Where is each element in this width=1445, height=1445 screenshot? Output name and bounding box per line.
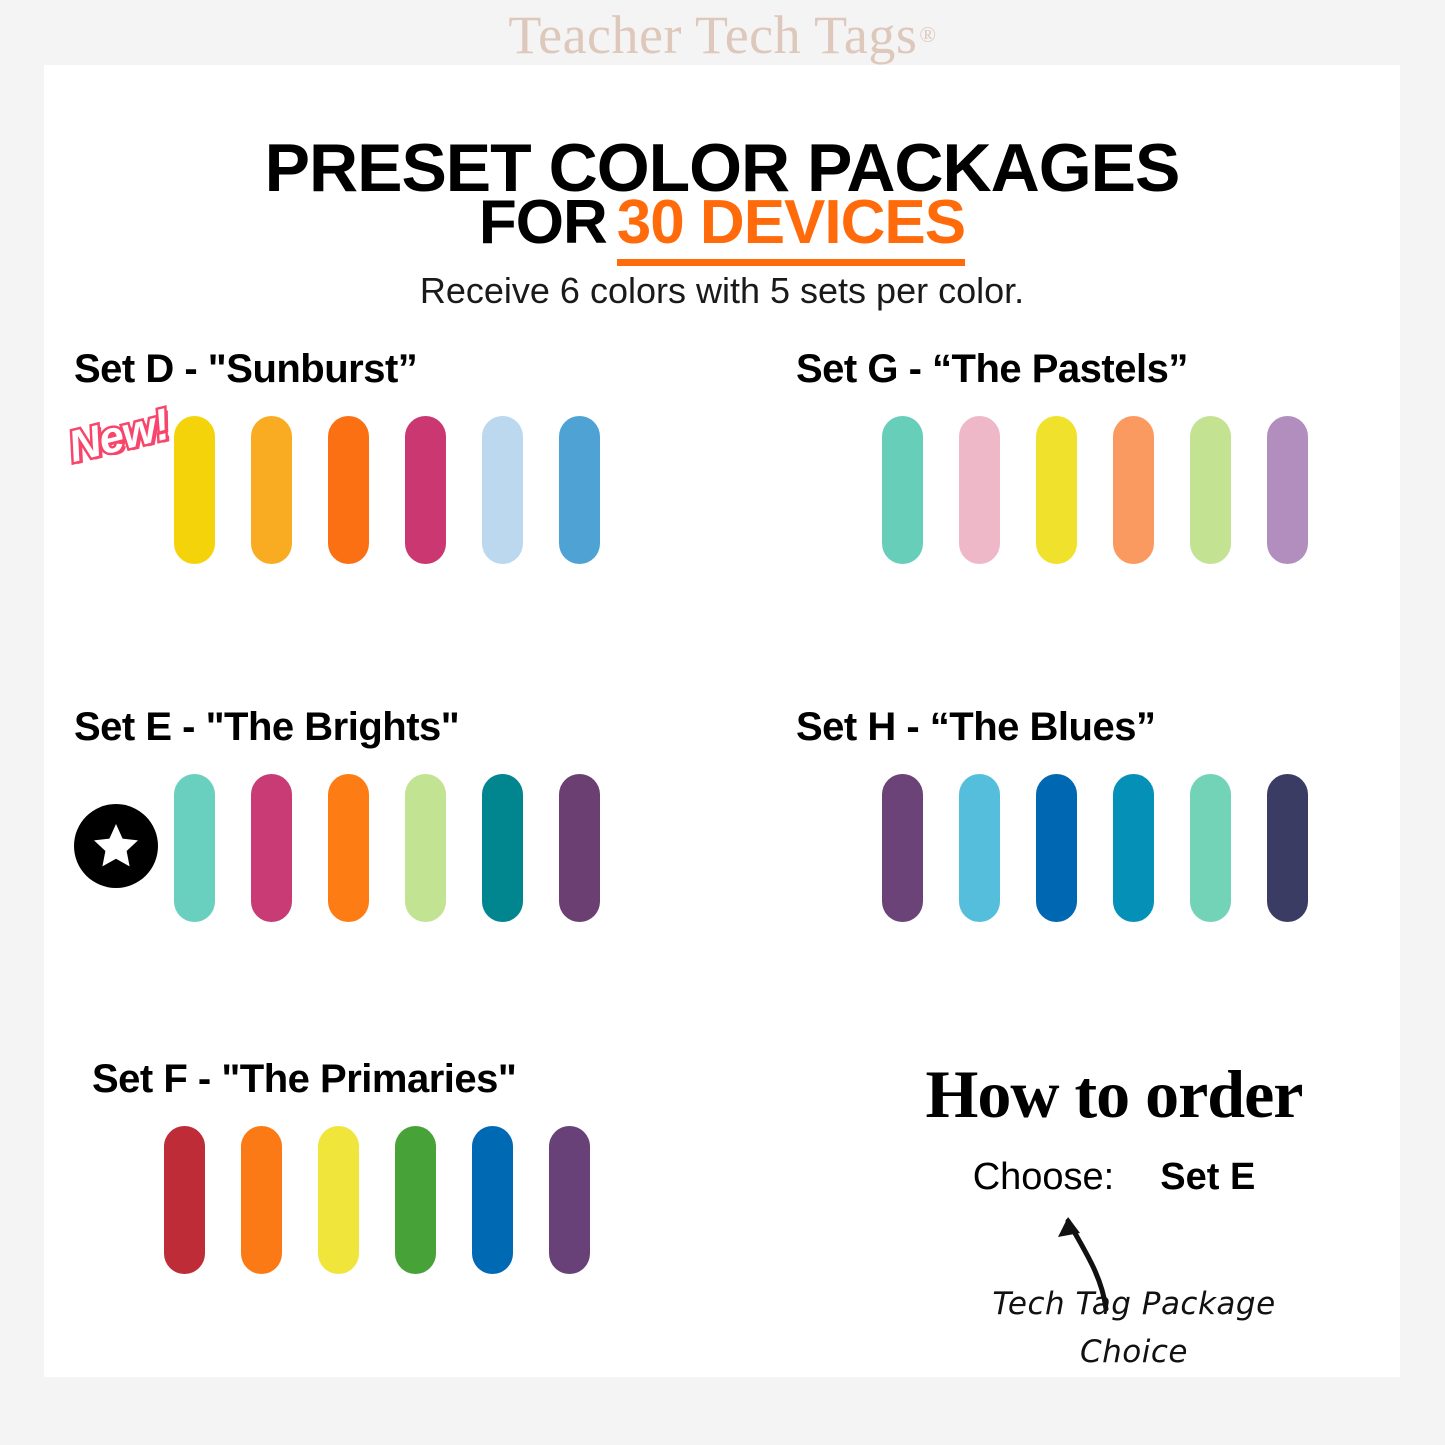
how-to-order-block: How to order Choose: Set E Tech Tag Pack… (834, 1055, 1394, 1199)
page-subtitle: FOR30 DEVICES (44, 187, 1400, 258)
color-swatch (318, 1126, 359, 1274)
color-swatch (1267, 416, 1308, 564)
device-count-highlight: 30 DEVICES (617, 188, 965, 266)
color-swatch (1190, 774, 1231, 922)
set-title-set-h: Set H - “The Blues” (796, 705, 1308, 750)
color-swatch (959, 774, 1000, 922)
set-block-set-f: Set F - "The Primaries" (92, 1057, 590, 1274)
annotation-line-1: Tech Tag Package (894, 1280, 1374, 1328)
color-swatch (174, 774, 215, 922)
featured-badge-slot (74, 774, 158, 922)
swatch-row-set-h (882, 774, 1308, 922)
how-to-order-title: How to order (834, 1055, 1394, 1134)
color-swatch (882, 416, 923, 564)
color-swatch (251, 416, 292, 564)
star-badge (74, 804, 158, 888)
swatch-row-set-e (74, 774, 600, 922)
color-swatch (1113, 416, 1154, 564)
color-swatch (559, 416, 600, 564)
color-swatch (328, 774, 369, 922)
color-swatch (1113, 774, 1154, 922)
set-title-set-e: Set E - "The Brights" (74, 705, 600, 750)
color-swatch (549, 1126, 590, 1274)
color-swatch (241, 1126, 282, 1274)
color-swatch (164, 1126, 205, 1274)
new-badge-slot: New! (74, 416, 158, 564)
registered-mark-icon: ® (919, 22, 936, 48)
color-swatch (882, 774, 923, 922)
color-swatch (1036, 774, 1077, 922)
annotation-line-2: Choice (894, 1328, 1374, 1376)
swatch-row-set-f (164, 1126, 590, 1274)
set-block-set-d: Set D - "Sunburst” New! (74, 347, 600, 564)
color-swatch (328, 416, 369, 564)
set-title-set-g: Set G - “The Pastels” (796, 347, 1308, 392)
color-swatch (959, 416, 1000, 564)
choose-row: Choose: Set E (834, 1156, 1394, 1199)
page-description: Receive 6 colors with 5 sets per color. (44, 270, 1400, 312)
color-swatch (395, 1126, 436, 1274)
choose-value: Set E (1160, 1156, 1255, 1199)
swatch-row-set-g (882, 416, 1308, 564)
brand-watermark: Teacher Tech Tags® (0, 0, 1445, 70)
new-badge-label: New! (64, 400, 174, 472)
color-swatch (1190, 416, 1231, 564)
set-title-set-f: Set F - "The Primaries" (92, 1057, 590, 1102)
color-swatch (1267, 774, 1308, 922)
set-block-set-e: Set E - "The Brights" (74, 705, 600, 922)
set-block-set-h: Set H - “The Blues” (796, 705, 1308, 922)
color-swatch (251, 774, 292, 922)
watermark-text: Teacher Tech Tags (508, 4, 917, 66)
color-swatch (482, 416, 523, 564)
color-swatch (472, 1126, 513, 1274)
color-swatch (1036, 416, 1077, 564)
color-swatch (405, 416, 446, 564)
color-swatch (405, 774, 446, 922)
color-swatch (482, 774, 523, 922)
set-block-set-g: Set G - “The Pastels” (796, 347, 1308, 564)
poster-card: PRESET COLOR PACKAGES FOR30 DEVICES Rece… (44, 65, 1400, 1377)
annotation-text: Tech Tag Package Choice (894, 1280, 1374, 1376)
subtitle-prefix: FOR (479, 188, 607, 257)
swatch-row-set-d: New! (74, 416, 600, 564)
color-swatch (559, 774, 600, 922)
star-icon (90, 820, 142, 872)
choose-label: Choose: (973, 1156, 1115, 1199)
